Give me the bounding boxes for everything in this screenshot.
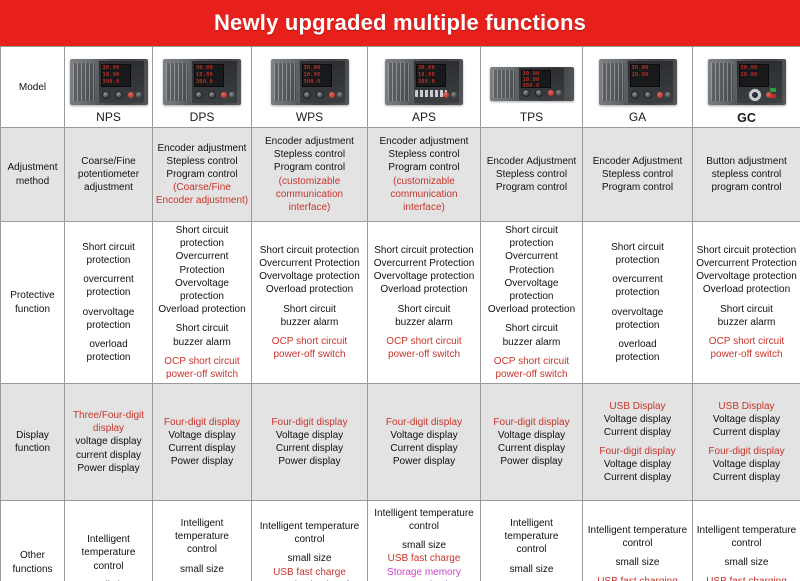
- cell-display-nps: Three/Four-digitdisplayvoltage displaycu…: [65, 384, 153, 501]
- model-name-1: DPS: [190, 110, 215, 126]
- product-image-ga: 30.00 10.00: [595, 55, 681, 109]
- device-readout-line2: 10.00: [418, 72, 442, 77]
- feature-line: protection: [67, 286, 150, 299]
- feature-line: power-off switch: [254, 348, 365, 361]
- feature-line: Coarse/Fine: [67, 155, 150, 168]
- feature-line: small size: [370, 539, 478, 552]
- product-image-dps: 30.00 10.00 300.0: [159, 55, 245, 109]
- feature-line: control: [155, 543, 249, 556]
- feature-line: OCP short circuit: [695, 335, 798, 348]
- row-header-adjustment-method: Adjustment method: [1, 128, 65, 222]
- feature-line: OCP short circuit: [155, 355, 249, 368]
- model-cell-0: 30.00 10.00 300.0 NPS: [65, 47, 153, 128]
- feature-line: protection: [67, 319, 150, 332]
- feature-line: Stepless control: [155, 155, 249, 168]
- feature-line: display: [67, 422, 150, 435]
- table-row-model: Model 30.00 10.00 300.0 NPS: [1, 47, 800, 128]
- row-header-line2: function: [15, 304, 50, 315]
- feature-line: Four-digit display: [695, 445, 798, 458]
- feature-line: Encoder Adjustment: [585, 155, 690, 168]
- feature-line: (customizable: [254, 175, 365, 188]
- cell-adjustment-wps: Encoder adjustmentStepless controlProgra…: [252, 128, 368, 222]
- feature-line: overload: [585, 338, 690, 351]
- comparison-table-page: Newly upgraded multiple functions Model …: [0, 0, 800, 581]
- device-readout-line1: 30.00: [103, 65, 127, 70]
- cell-display-wps: Four-digit displayVoltage displayCurrent…: [252, 384, 368, 501]
- feature-line: buzzer alarm: [695, 316, 798, 329]
- row-header-display-function: Display function: [1, 384, 65, 501]
- cell-other-dps: Intelligent temperaturecontrolsmall size…: [153, 501, 252, 581]
- feature-line: adjustment: [67, 181, 150, 194]
- feature-line: small size: [585, 556, 690, 569]
- feature-line: voltage display: [67, 435, 150, 448]
- product-image-nps: 30.00 10.00 300.0: [66, 55, 152, 109]
- cell-other-wps: Intelligent temperaturecontrolsmall size…: [252, 501, 368, 581]
- feature-line: power-off switch: [695, 348, 798, 361]
- model-cell-3: 30.00 10.00 300.0 APS: [368, 47, 481, 128]
- feature-line: OCP short circuit: [483, 355, 580, 368]
- product-image-aps: 30.00 10.00 300.0: [381, 55, 467, 109]
- feature-line: Encoder adjustment): [155, 194, 249, 207]
- feature-line: Overload protection: [483, 303, 580, 316]
- feature-line: buzzer alarm: [483, 336, 580, 349]
- feature-line: Intelligent temperature: [370, 507, 478, 520]
- cell-adjustment-aps: Encoder adjustmentStepless controlProgra…: [368, 128, 481, 222]
- feature-line: Overvoltage protection: [370, 270, 478, 283]
- model-cell-4: 30.00 10.00 300.0 TPS: [481, 47, 583, 128]
- feature-line: control: [695, 537, 798, 550]
- cell-protective-gc: Short circuit protectionOvercurrent Prot…: [693, 222, 800, 384]
- feature-line: Stepless control: [483, 168, 580, 181]
- feature-line: Stepless control: [370, 148, 478, 161]
- feature-line: Voltage display: [695, 458, 798, 471]
- feature-line: USB fast charging: [585, 575, 690, 581]
- device-readout-line2: 10.00: [632, 72, 656, 77]
- device-readout-line1: 30.00: [523, 71, 547, 76]
- device-readout-line3: 300.0: [196, 79, 220, 84]
- feature-line: Current display: [155, 442, 249, 455]
- feature-line: Overvoltage protection: [483, 277, 580, 303]
- feature-line: Intelligent: [67, 533, 150, 546]
- feature-line: Voltage display: [254, 429, 365, 442]
- feature-line: protection: [67, 351, 150, 364]
- feature-line: buzzer alarm: [254, 316, 365, 329]
- device-readout-line3: 300.0: [304, 79, 328, 84]
- cell-display-tps: Four-digit displayVoltage displayCurrent…: [481, 384, 583, 501]
- feature-line: buzzer alarm: [370, 316, 478, 329]
- feature-line: Short circuit protection: [483, 224, 580, 250]
- row-header-line2: functions: [12, 564, 52, 575]
- table-row-adjustment-method: Adjustment method Coarse/Finepotentiomet…: [1, 128, 800, 222]
- row-header-model: Model: [1, 47, 65, 128]
- feature-line: Program control: [254, 161, 365, 174]
- device-readout-line2: 10.00: [741, 72, 765, 77]
- feature-line: Short circuit: [483, 322, 580, 335]
- model-cell-1: 30.00 10.00 300.0 DPS: [153, 47, 252, 128]
- feature-line: Overload protection: [370, 283, 478, 296]
- feature-line: buzzer alarm: [155, 336, 249, 349]
- feature-line: (customizable: [370, 175, 478, 188]
- feature-line: Intelligent temperature: [585, 524, 690, 537]
- feature-line: overvoltage: [585, 306, 690, 319]
- device-readout-line3: 300.0: [418, 79, 442, 84]
- feature-line: Three/Four-digit: [67, 409, 150, 422]
- feature-line: overload: [67, 338, 150, 351]
- product-image-wps: 30.00 10.00 300.0: [267, 55, 353, 109]
- feature-line: Overcurrent Protection: [483, 250, 580, 276]
- feature-line: overcurrent: [67, 273, 150, 286]
- cell-other-nps: Intelligenttemperaturecontrolsmall size: [65, 501, 153, 581]
- feature-line: Overvoltage protection: [254, 270, 365, 283]
- feature-line: control: [483, 543, 580, 556]
- feature-line: communication interface): [370, 188, 478, 214]
- feature-line: temperature: [67, 546, 150, 559]
- cell-display-ga: USB DisplayVoltage displayCurrent displa…: [583, 384, 693, 501]
- feature-line: power-off switch: [155, 368, 249, 381]
- feature-line: current display: [67, 449, 150, 462]
- cell-adjustment-tps: Encoder AdjustmentStepless controlProgra…: [481, 128, 583, 222]
- feature-line: Intelligent temperature: [254, 520, 365, 533]
- feature-line: Overcurrent Protection: [695, 257, 798, 270]
- feature-line: control: [254, 533, 365, 546]
- feature-line: control: [67, 560, 150, 573]
- row-header-line1: Other: [20, 550, 45, 561]
- text-spacer: [155, 576, 249, 581]
- feature-line: protection: [585, 254, 690, 267]
- feature-line: protection: [585, 351, 690, 364]
- feature-line: overcurrent: [585, 273, 690, 286]
- feature-line: Storage memory: [370, 566, 478, 579]
- cell-protective-aps: Short circuit protectionOvercurrent Prot…: [368, 222, 481, 384]
- feature-line: Short circuit protection: [254, 244, 365, 257]
- model-cell-2: 30.00 10.00 300.0 WPS: [252, 47, 368, 128]
- feature-line: Encoder adjustment: [370, 135, 478, 148]
- device-readout-line1: 30.00: [304, 65, 328, 70]
- feature-line: Overcurrent Protection: [370, 257, 478, 270]
- row-header-protective-function: Protective function: [1, 222, 65, 384]
- cell-other-ga: Intelligent temperaturecontrolsmall size…: [583, 501, 693, 581]
- device-readout-line2: 10.00: [103, 72, 127, 77]
- feature-line: potentiometer: [67, 168, 150, 181]
- feature-line: Short circuit: [370, 303, 478, 316]
- row-header-line1: Adjustment: [7, 162, 57, 173]
- device-readout-line2: 10.00: [196, 72, 220, 77]
- feature-line: USB Display: [695, 400, 798, 413]
- feature-line: Four-digit display: [370, 416, 478, 429]
- feature-line: power-off switch: [483, 368, 580, 381]
- feature-line: Power display: [370, 455, 478, 468]
- feature-line: Power display: [155, 455, 249, 468]
- device-readout-line1: 30.00: [632, 65, 656, 70]
- model-name-2: WPS: [296, 110, 323, 126]
- feature-line: USB fast charge: [254, 566, 365, 579]
- feature-line: USB fast charge: [370, 552, 478, 565]
- cell-other-aps: Intelligent temperaturecontrolsmall size…: [368, 501, 481, 581]
- feature-line: Short circuit: [695, 303, 798, 316]
- cell-other-gc: Intelligent temperaturecontrolsmall size…: [693, 501, 800, 581]
- page-title: Newly upgraded multiple functions: [214, 10, 586, 36]
- cell-protective-ga: Short circuitprotectionovercurrentprotec…: [583, 222, 693, 384]
- feature-line: Four-digit display: [585, 445, 690, 458]
- feature-line: Four-digit display: [254, 416, 365, 429]
- feature-line: Short circuit: [585, 241, 690, 254]
- model-name-0: NPS: [96, 110, 121, 126]
- device-readout-line2: 10.00: [523, 77, 547, 82]
- feature-line: small size: [254, 552, 365, 565]
- feature-line: Short circuit: [67, 241, 150, 254]
- feature-line: Overcurrent Protection: [155, 250, 249, 276]
- cell-protective-wps: Short circuit protectionOvercurrent Prot…: [252, 222, 368, 384]
- feature-line: Overvoltage protection: [695, 270, 798, 283]
- feature-line: Voltage display: [370, 429, 478, 442]
- feature-line: Intelligent temperature: [695, 524, 798, 537]
- device-readout-line1: 30.00: [196, 65, 220, 70]
- row-header-line2: method: [16, 176, 49, 187]
- feature-line: program control: [695, 181, 798, 194]
- device-readout-line3: 300.0: [523, 83, 547, 88]
- feature-line: Voltage display: [695, 413, 798, 426]
- row-header-line2: function: [15, 443, 50, 454]
- feature-line: Four-digit display: [483, 416, 580, 429]
- feature-line: Overcurrent Protection: [254, 257, 365, 270]
- feature-line: OCP short circuit: [254, 335, 365, 348]
- feature-line: power-off switch: [370, 348, 478, 361]
- feature-line: Short circuit protection: [155, 224, 249, 250]
- feature-line: Button adjustment: [695, 155, 798, 168]
- feature-line: small size: [695, 556, 798, 569]
- feature-line: Overvoltage protection: [155, 277, 249, 303]
- feature-line: Encoder Adjustment: [483, 155, 580, 168]
- title-banner: Newly upgraded multiple functions: [0, 0, 800, 46]
- table-row-display-function: Display function Three/Four-digitdisplay…: [1, 384, 800, 501]
- cell-adjustment-dps: Encoder adjustmentStepless controlProgra…: [153, 128, 252, 222]
- feature-line: Current display: [585, 471, 690, 484]
- feature-line: Intelligent temperature: [483, 517, 580, 543]
- model-name-3: APS: [412, 110, 436, 126]
- table-row-other-functions: Other functions Intelligenttemperatureco…: [1, 501, 800, 581]
- feature-line: Short circuit: [155, 322, 249, 335]
- feature-line: Voltage display: [585, 458, 690, 471]
- device-readout-line1: 30.00: [418, 65, 442, 70]
- feature-line: Stepless control: [254, 148, 365, 161]
- feature-line: Overload protection: [155, 303, 249, 316]
- feature-line: protection: [585, 286, 690, 299]
- feature-line: communication interface): [254, 188, 365, 214]
- feature-line: protection: [67, 254, 150, 267]
- feature-line: Four-digit display: [155, 416, 249, 429]
- feature-line: Current display: [254, 442, 365, 455]
- feature-line: Current display: [370, 442, 478, 455]
- model-cell-6: 30.00 10.00 GC: [693, 47, 800, 128]
- feature-line: control: [370, 520, 478, 533]
- feature-line: Stepless control: [585, 168, 690, 181]
- feature-line: Program control: [370, 161, 478, 174]
- model-name-5: GA: [629, 110, 646, 126]
- text-spacer: [483, 576, 580, 581]
- feature-line: Overload protection: [695, 283, 798, 296]
- cell-other-tps: Intelligent temperaturecontrolsmall size…: [481, 501, 583, 581]
- feature-line: Voltage display: [585, 413, 690, 426]
- device-readout-line2: 10.00: [304, 72, 328, 77]
- feature-line: Program control: [155, 168, 249, 181]
- cell-protective-tps: Short circuit protectionOvercurrent Prot…: [481, 222, 583, 384]
- cell-adjustment-gc: Button adjustmentstepless controlprogram…: [693, 128, 800, 222]
- product-image-tps: 30.00 10.00 300.0: [486, 55, 578, 109]
- feature-line: Current display: [585, 426, 690, 439]
- feature-line: small size: [155, 563, 249, 576]
- cell-display-aps: Four-digit displayVoltage displayCurrent…: [368, 384, 481, 501]
- feature-line: Power display: [67, 462, 150, 475]
- feature-line: Intelligent temperature: [155, 517, 249, 543]
- feature-line: Program control: [483, 181, 580, 194]
- cell-adjustment-ga: Encoder AdjustmentStepless controlProgra…: [583, 128, 693, 222]
- feature-line: Overload protection: [254, 283, 365, 296]
- product-image-gc: 30.00 10.00: [704, 55, 790, 109]
- cell-display-dps: Four-digit displayVoltage displayCurrent…: [153, 384, 252, 501]
- feature-line: Voltage display: [483, 429, 580, 442]
- feature-line: Program control: [585, 181, 690, 194]
- feature-line: stepless control: [695, 168, 798, 181]
- feature-line: Current display: [695, 426, 798, 439]
- feature-line: OCP short circuit: [370, 335, 478, 348]
- feature-line: Current display: [695, 471, 798, 484]
- feature-line: Short circuit: [254, 303, 365, 316]
- table-row-protective-function: Protective function Short circuitprotect…: [1, 222, 800, 384]
- row-header-other-functions: Other functions: [1, 501, 65, 581]
- cell-protective-dps: Short circuit protectionOvercurrent Prot…: [153, 222, 252, 384]
- feature-line: USB fast charging: [695, 575, 798, 581]
- feature-line: Power display: [483, 455, 580, 468]
- model-name-6: GC: [737, 110, 756, 127]
- feature-line: Encoder adjustment: [155, 142, 249, 155]
- row-header-line1: Protective: [10, 290, 54, 301]
- cell-protective-nps: Short circuitprotectionovercurrentprotec…: [65, 222, 153, 384]
- model-name-4: TPS: [520, 110, 543, 126]
- feature-line: Encoder adjustment: [254, 135, 365, 148]
- row-header-line1: Display: [16, 430, 49, 441]
- feature-line: Power display: [254, 455, 365, 468]
- device-readout-line1: 30.00: [741, 65, 765, 70]
- device-readout-line3: 300.0: [103, 79, 127, 84]
- feature-line: Short circuit protection: [695, 244, 798, 257]
- feature-line: small size: [483, 563, 580, 576]
- model-cell-5: 30.00 10.00 GA: [583, 47, 693, 128]
- feature-line: overvoltage: [67, 306, 150, 319]
- product-comparison-table: Model 30.00 10.00 300.0 NPS: [0, 46, 800, 581]
- feature-line: Voltage display: [155, 429, 249, 442]
- feature-line: control: [585, 537, 690, 550]
- feature-line: Short circuit protection: [370, 244, 478, 257]
- feature-line: protection: [585, 319, 690, 332]
- feature-line: (Coarse/Fine: [155, 181, 249, 194]
- feature-line: Current display: [483, 442, 580, 455]
- cell-display-gc: USB DisplayVoltage displayCurrent displa…: [693, 384, 800, 501]
- feature-line: USB Display: [585, 400, 690, 413]
- cell-adjustment-nps: Coarse/Finepotentiometeradjustment: [65, 128, 153, 222]
